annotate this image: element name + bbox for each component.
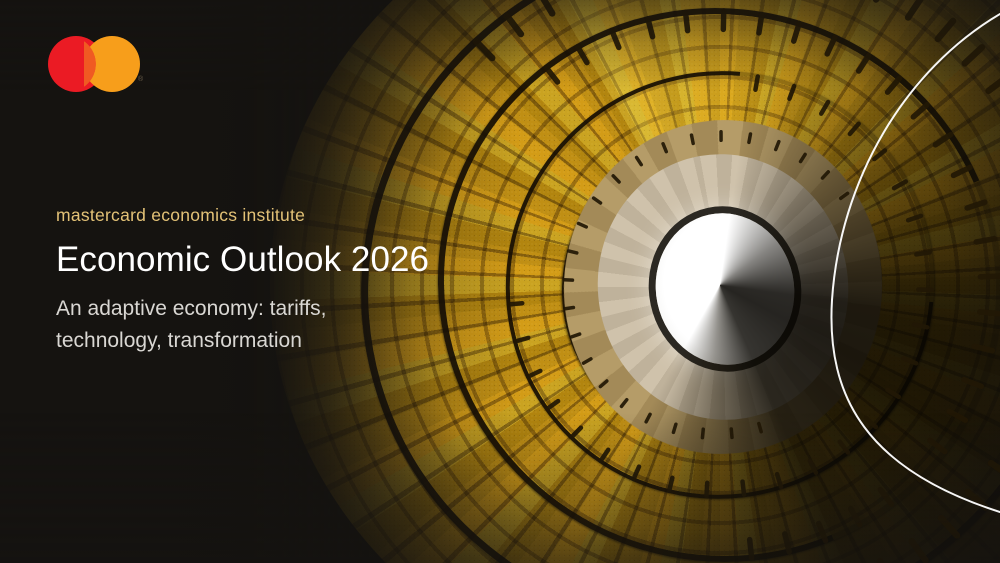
logo-overlap-inner (84, 36, 104, 92)
page-title: Economic Outlook 2026 (56, 240, 486, 279)
copy-block: mastercard economics institute Economic … (56, 205, 486, 356)
mastercard-logo[interactable]: ® (48, 36, 140, 92)
registered-trademark-icon: ® (138, 76, 143, 83)
subtitle-line-1: An adaptive economy: tariffs, (56, 297, 326, 320)
subtitle-line-2: technology, transformation (56, 329, 302, 352)
eyebrow-text: mastercard economics institute (56, 205, 486, 226)
page-subtitle: An adaptive economy: tariffs,technology,… (56, 293, 396, 356)
logo-overlap-lens (84, 36, 104, 92)
title-slide: ® mastercard economics institute Economi… (0, 0, 1000, 563)
